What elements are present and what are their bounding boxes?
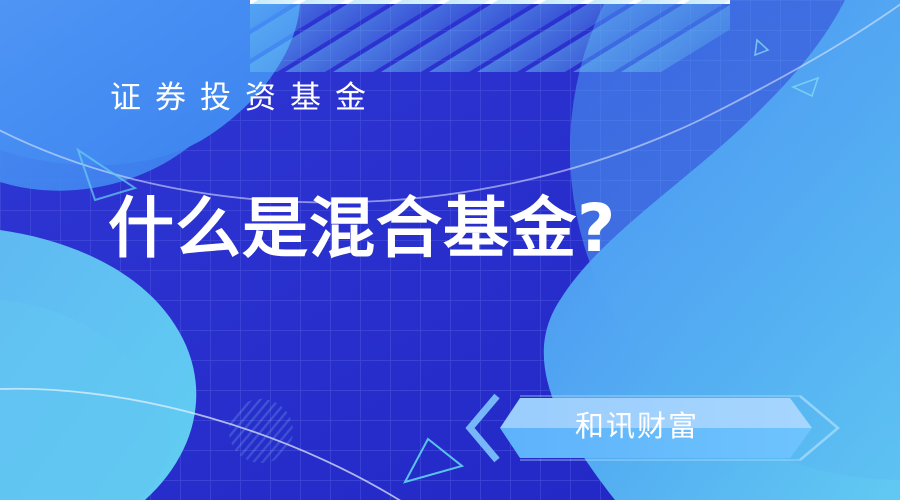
- page-title: 什么是混合基金?: [108, 196, 616, 262]
- poster-canvas: 证券投资基金 什么是混合基金? 和讯财富: [0, 0, 900, 500]
- brand-label: 和讯财富: [575, 412, 699, 441]
- subtitle: 证券投资基金: [110, 82, 380, 115]
- halftone-circle: [229, 399, 293, 463]
- title-block: 什么是混合基金?: [108, 196, 616, 262]
